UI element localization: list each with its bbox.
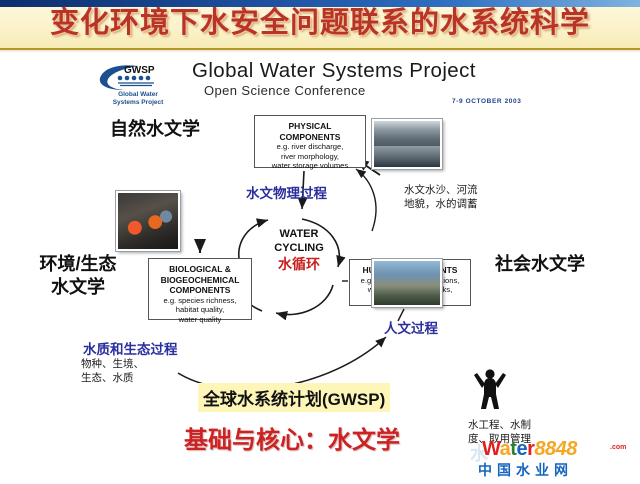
label-gwsp-program: 全球水系统计划(GWSP) <box>198 383 390 412</box>
box-bio-body-3: water quality <box>149 315 251 325</box>
box-bio-body-1: e.g. species richness, <box>149 296 251 306</box>
note-river-hydrology: 水文水沙、河流 地貌，水的调蓄 <box>404 183 514 211</box>
center-label-en-1: WATER <box>249 228 349 242</box>
watermark-letter-w: W <box>482 438 500 460</box>
box-bio-heading-1: BIOLOGICAL & <box>149 264 251 275</box>
label-core-statement: 基础与核心：水文学 <box>184 420 400 455</box>
note-river-line1: 水文水沙、河流 <box>404 183 514 197</box>
box-physical-body-2: river morphology, <box>255 152 365 162</box>
watermark-domain-suffix: .com <box>610 444 626 451</box>
river-photo-image <box>374 121 440 167</box>
slide-root: 变化环境下水安全问题联系的水系统科学 GWSP <box>0 0 640 480</box>
note-river-line2: 地貌，水的调蓄 <box>404 197 514 211</box>
box-biological-components: BIOLOGICAL & BIOGEOCHEMICAL COMPONENTS e… <box>148 258 252 320</box>
watermark-wordmark: Water8848 <box>482 438 577 461</box>
label-water-quality-process: 水质和生态过程 <box>83 338 178 358</box>
label-human-process: 人文过程 <box>384 317 438 337</box>
box-physical-heading-2: COMPONENTS <box>255 132 365 143</box>
watermark-number: 8848 <box>534 438 577 460</box>
dam-photo-image <box>374 261 440 305</box>
slide-canvas: GWSP Global Water Systems Project Global… <box>0 53 640 480</box>
center-label-zh: 水循环 <box>249 255 349 273</box>
label-social-hydrology: 社会水文学 <box>495 250 585 276</box>
watermark-letter-a: a <box>500 438 511 460</box>
box-bio-heading-3: COMPONENTS <box>149 285 251 296</box>
label-natural-hydrology: 自然水文学 <box>110 115 200 141</box>
fish-photo <box>116 191 180 251</box>
note-species-line1: 物种、生境、 <box>81 357 191 371</box>
label-eco-hydrology-line2: 水文学 <box>18 276 138 299</box>
box-bio-body-2: habitat quality, <box>149 305 251 315</box>
note-species: 物种、生境、 生态、水质 <box>81 357 191 385</box>
box-physical-body-3: water storage volumes <box>255 161 365 171</box>
human-silhouette-icon <box>470 363 510 411</box>
note-engineering-line1: 水工程、水制 <box>468 418 568 432</box>
note-species-line2: 生态、水质 <box>81 371 191 385</box>
watermark-chinese: 中国水业网 <box>478 460 573 480</box>
label-eco-hydrology-line1: 环境/生态 <box>18 253 138 276</box>
river-photo <box>372 119 442 169</box>
box-physical-heading-1: PHYSICAL <box>255 121 365 132</box>
box-physical-components: PHYSICAL COMPONENTS e.g. river discharge… <box>254 115 366 168</box>
watermark-letter-e: e <box>516 438 527 460</box>
center-water-cycling: WATER CYCLING 水循环 <box>249 228 349 273</box>
watermark: 水 Water8848 .com 中国水业网 <box>470 438 634 484</box>
fish-photo-image <box>118 193 178 249</box>
box-physical-body-1: e.g. river discharge, <box>255 142 365 152</box>
page-title: 变化环境下水安全问题联系的水系统科学 <box>0 6 640 40</box>
box-bio-heading-2: BIOGEOCHEMICAL <box>149 275 251 286</box>
label-physical-process: 水文物理过程 <box>246 182 327 202</box>
dam-photo <box>372 259 442 307</box>
center-label-en-2: CYCLING <box>249 242 349 256</box>
label-eco-hydrology: 环境/生态 水文学 <box>18 253 138 299</box>
